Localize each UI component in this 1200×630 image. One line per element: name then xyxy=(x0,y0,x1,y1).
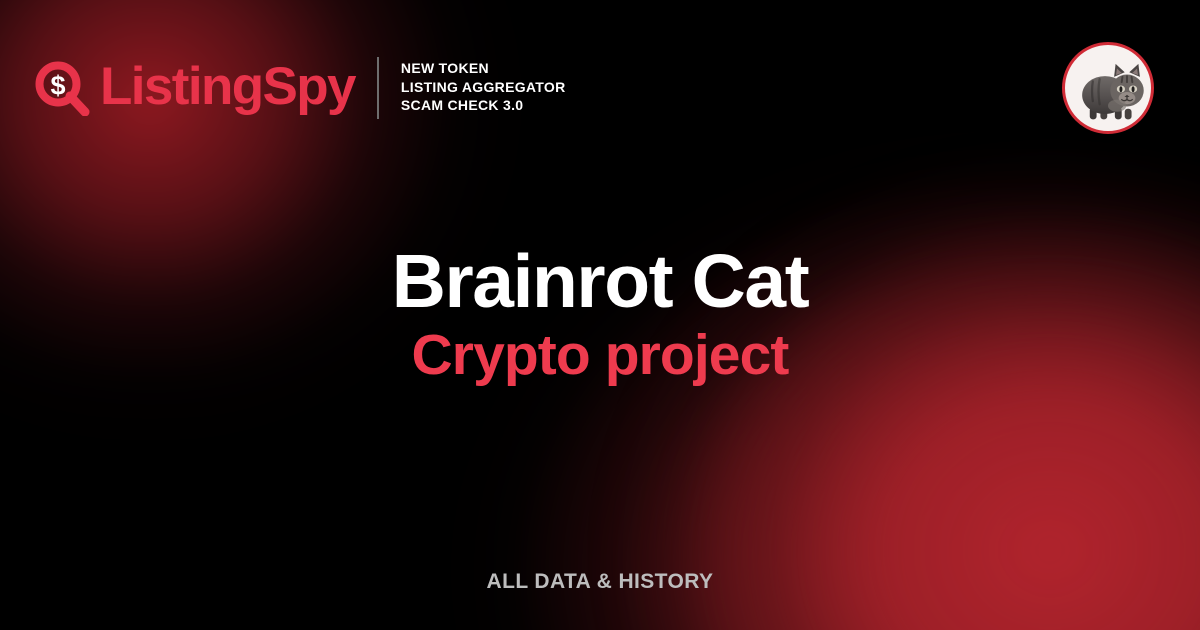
tagline-line-2: LISTING AGGREGATOR xyxy=(401,80,566,96)
cat-avatar-icon xyxy=(1070,51,1146,131)
avatar[interactable] xyxy=(1062,42,1154,134)
page-subtitle: Crypto project xyxy=(40,326,1160,386)
logo-lockup[interactable]: $ ListingSpy xyxy=(34,60,355,116)
header: $ ListingSpy NEW TOKEN LISTING AGGREGATO… xyxy=(0,0,1200,175)
social-preview-card: $ ListingSpy NEW TOKEN LISTING AGGREGATO… xyxy=(0,0,1200,630)
brand-wordmark: ListingSpy xyxy=(100,60,355,113)
magnifier-dollar-icon: $ xyxy=(34,60,90,116)
footer-text: ALL DATA & HISTORY xyxy=(0,570,1200,594)
tagline-line-3: SCAM CHECK 3.0 xyxy=(401,98,566,114)
footer: ALL DATA & HISTORY xyxy=(0,570,1200,594)
hero-block: Brainrot Cat Crypto project xyxy=(0,243,1200,385)
page-title: Brainrot Cat xyxy=(40,243,1160,320)
brand-divider xyxy=(377,57,379,119)
svg-text:$: $ xyxy=(50,70,65,100)
brand-tagline: NEW TOKEN LISTING AGGREGATOR SCAM CHECK … xyxy=(401,61,566,114)
brand-block[interactable]: $ ListingSpy NEW TOKEN LISTING AGGREGATO… xyxy=(34,57,566,119)
tagline-line-1: NEW TOKEN xyxy=(401,61,566,77)
